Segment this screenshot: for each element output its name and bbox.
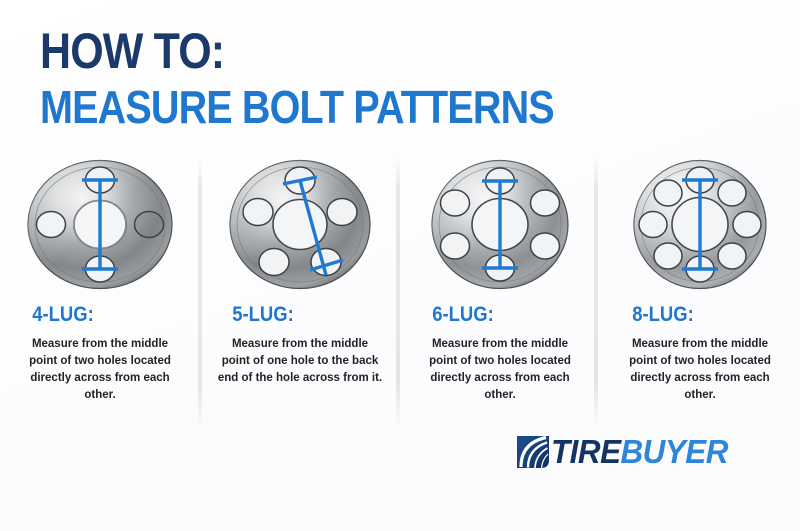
logo-text-tire: TIRE [551,433,621,470]
lug-label-6: 6-LUG: [432,303,494,327]
wheel-diagram-5-lug [225,158,375,291]
wheel-4-lug-icon [25,158,175,291]
lug-description-8: Measure from the middle point of two hol… [618,336,783,404]
wheel-diagram-8-lug [625,158,775,291]
logo-text-buyer: BUYER [621,433,728,470]
logo-wordmark: TIREBUYER [551,435,728,469]
title-line-measure-bolt-patterns: MEASURE BOLT PATTERNS [40,82,522,132]
lug-label-8: 8-LUG: [632,303,694,327]
lug-label-5: 5-LUG: [232,303,294,327]
lug-description-4: Measure from the middle point of two hol… [18,336,183,404]
wheel-diagram-4-lug [25,158,175,291]
tirebuyer-swoosh-icon [516,435,550,469]
infographic-canvas: HOW TO: MEASURE BOLT PATTERNS [0,0,800,531]
lug-description-6: Measure from the middle point of two hol… [418,336,583,404]
lug-label-4: 4-LUG: [32,303,94,327]
wheel-6-lug-icon [425,158,575,291]
column-5-lug: 5-LUG: Measure from the middle point of … [200,158,400,426]
tirebuyer-logo: TIREBUYER [516,433,737,471]
column-8-lug: 8-LUG: Measure from the middle point of … [600,158,800,426]
title-line-how-to: HOW TO: [40,26,522,76]
wheel-8-lug-icon [625,158,775,291]
lug-pattern-columns: 4-LUG: Measure from the middle point of … [0,158,800,426]
column-4-lug: 4-LUG: Measure from the middle point of … [0,158,200,426]
wheel-diagram-6-lug [425,158,575,291]
page-title: HOW TO: MEASURE BOLT PATTERNS [40,26,600,132]
lug-description-5: Measure from the middle point of one hol… [218,336,383,387]
wheel-5-lug-icon [225,158,375,291]
column-6-lug: 6-LUG: Measure from the middle point of … [400,158,600,426]
